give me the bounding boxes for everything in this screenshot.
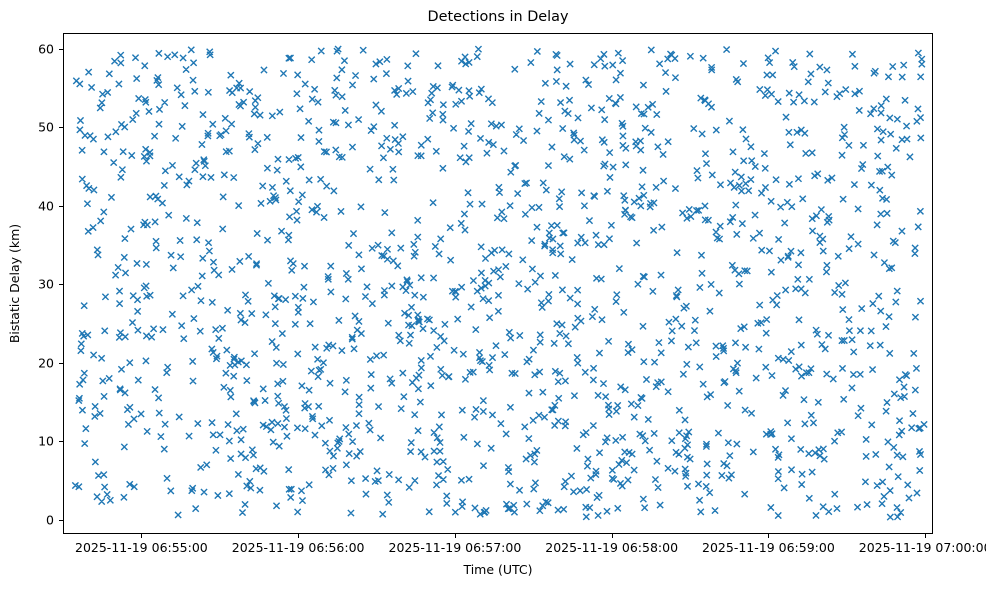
x-tick-label: 2025-11-19 06:58:00 <box>545 540 678 555</box>
x-axis-label: Time (UTC) <box>63 562 933 577</box>
y-tick-label: 10 <box>38 434 54 449</box>
y-tick-mark <box>59 206 63 207</box>
x-tick-mark <box>612 534 613 538</box>
y-axis-label: Bistatic Delay (km) <box>7 33 22 534</box>
x-tick-mark <box>925 534 926 538</box>
x-tick-label: 2025-11-19 06:59:00 <box>702 540 835 555</box>
y-tick-mark <box>59 363 63 364</box>
y-tick-mark <box>59 441 63 442</box>
x-tick-mark <box>768 534 769 538</box>
page-title: Detections in Delay <box>63 8 933 26</box>
x-tick-mark <box>455 534 456 538</box>
y-tick-label: 60 <box>38 41 54 56</box>
plot-area <box>63 33 933 534</box>
x-tick-mark <box>298 534 299 538</box>
y-tick-mark <box>59 520 63 521</box>
x-tick-label: 2025-11-19 06:55:00 <box>75 540 208 555</box>
x-tick-mark <box>141 534 142 538</box>
y-tick-label: 0 <box>46 512 54 527</box>
y-tick-label: 40 <box>38 198 54 213</box>
y-tick-mark <box>59 49 63 50</box>
x-tick-label: 2025-11-19 07:00:00 <box>859 540 986 555</box>
scatter-markers <box>72 46 927 520</box>
x-tick-label: 2025-11-19 06:56:00 <box>232 540 365 555</box>
y-tick-label: 30 <box>38 277 54 292</box>
matplotlib-figure: Detections in Delay 2025-11-19 06:55:002… <box>0 0 986 590</box>
y-tick-label: 50 <box>38 120 54 135</box>
y-tick-mark <box>59 284 63 285</box>
y-tick-mark <box>59 127 63 128</box>
scatter-series <box>64 34 932 533</box>
y-tick-label: 20 <box>38 355 54 370</box>
x-tick-label: 2025-11-19 06:57:00 <box>389 540 522 555</box>
